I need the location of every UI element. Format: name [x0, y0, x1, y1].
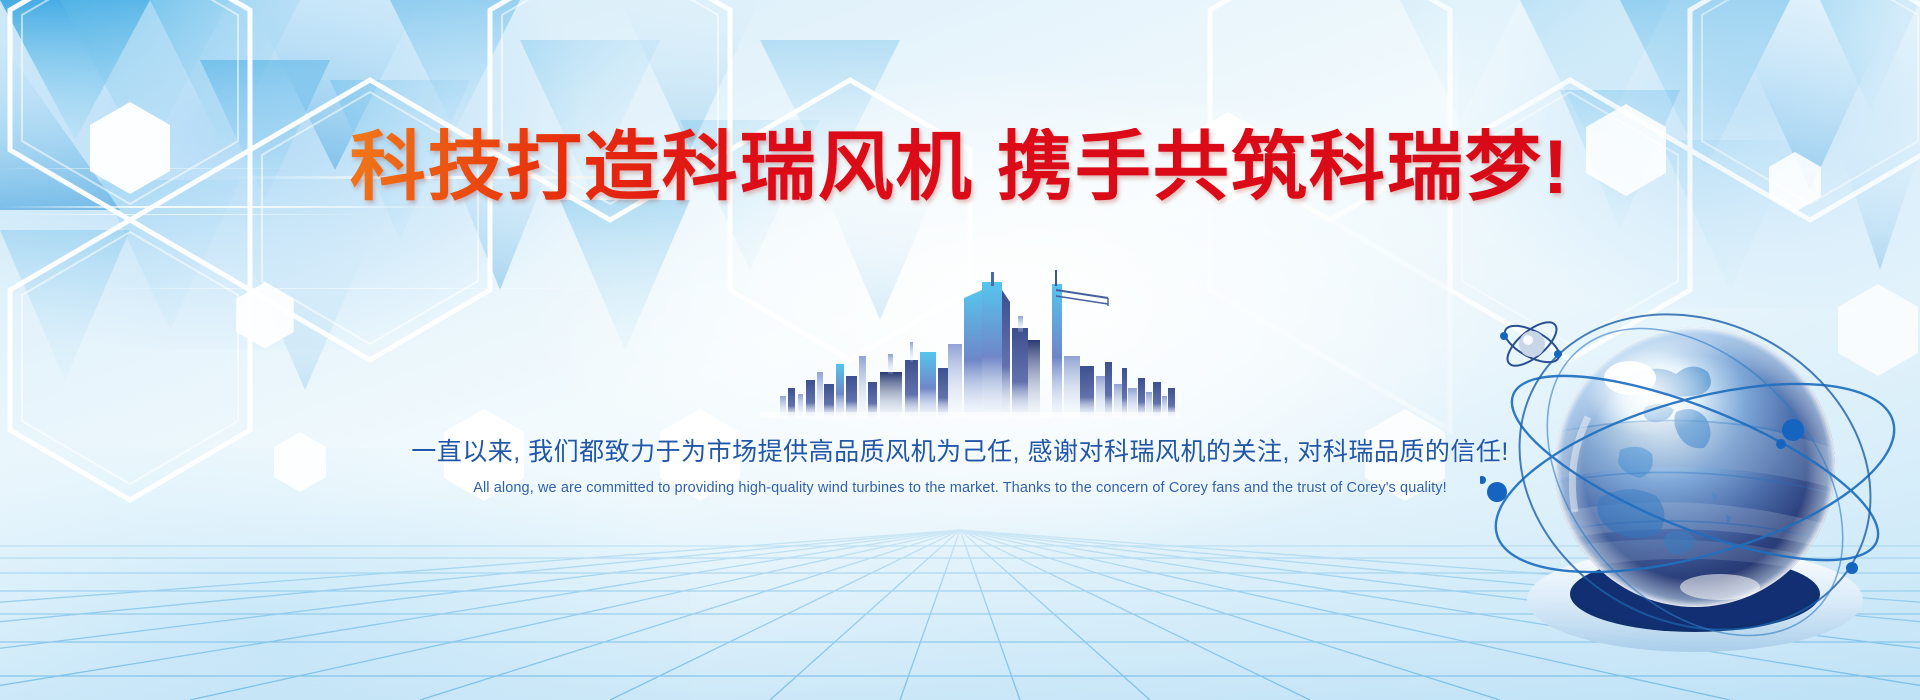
banner-subtitle-chinese: 一直以来, 我们都致力于为市场提供高品质风机为己任, 感谢对科瑞风机的关注, 对…: [0, 432, 1920, 468]
banner-headline: 科技打造科瑞风机 携手共筑科瑞梦!: [350, 128, 1570, 208]
banner-subtitle-english: All along, we are committed to providing…: [0, 480, 1920, 496]
banner-subtitle-block: 一直以来, 我们都致力于为市场提供高品质风机为己任, 感谢对科瑞风机的关注, 对…: [0, 432, 1920, 496]
promo-banner: 科技打造科瑞风机 携手共筑科瑞梦! 一直以来, 我们都致力于为市场提供高品质风机…: [0, 0, 1920, 700]
banner-content: 科技打造科瑞风机 携手共筑科瑞梦! 一直以来, 我们都致力于为市场提供高品质风机…: [0, 0, 1920, 700]
